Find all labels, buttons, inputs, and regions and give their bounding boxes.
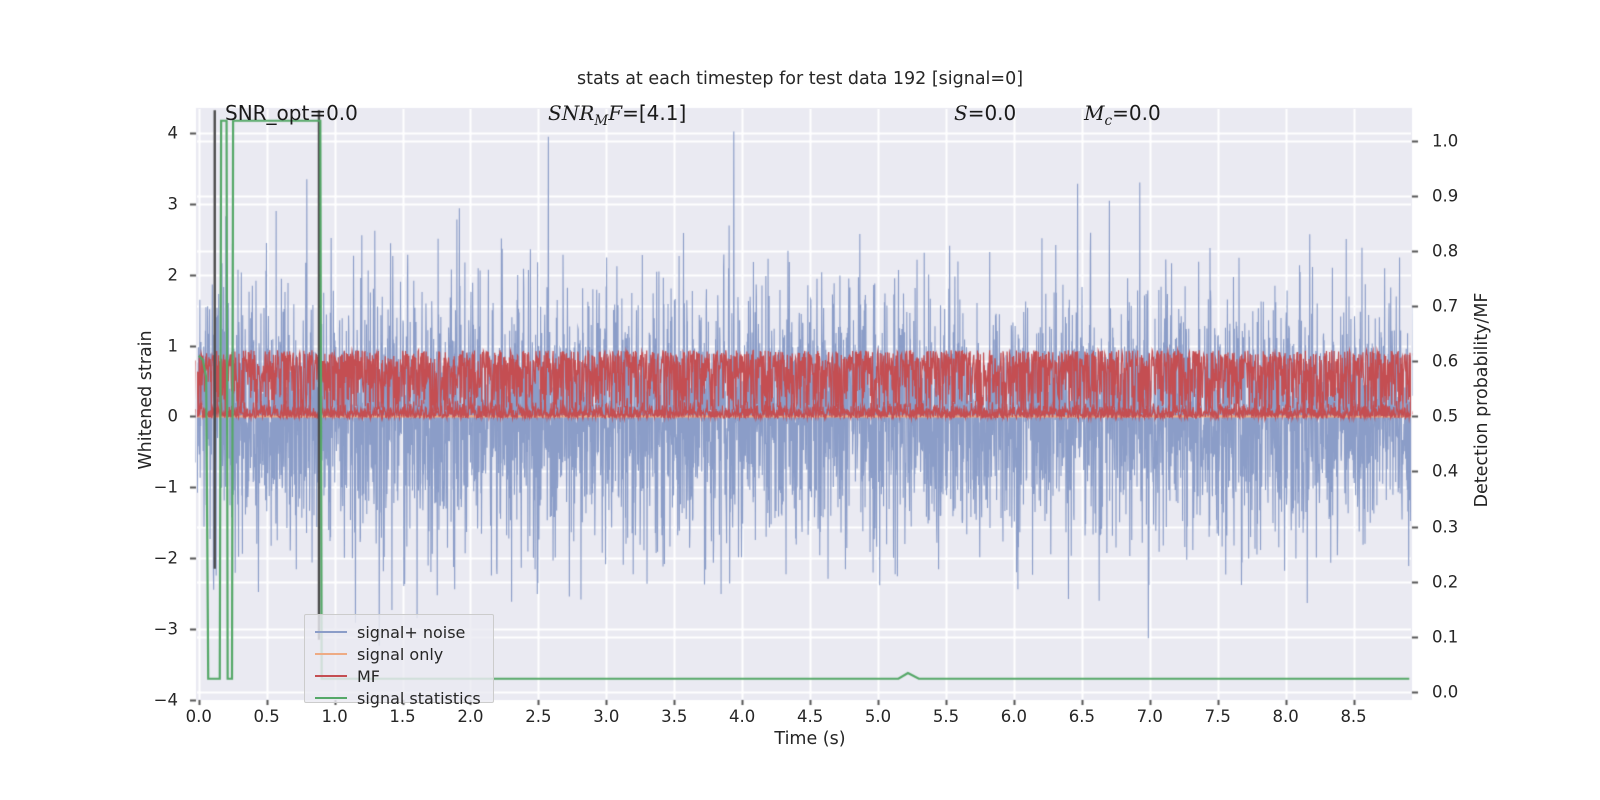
legend-item-label: MF: [357, 667, 380, 686]
y-tick-label-right: 0.3: [1432, 517, 1458, 536]
x-tick-label: 2.0: [457, 707, 483, 726]
x-tick-label: 1.5: [389, 707, 415, 726]
legend-item[interactable]: signal+ noise: [305, 621, 465, 643]
x-tick-label: 3.5: [661, 707, 687, 726]
x-tick-label: 3.0: [593, 707, 619, 726]
legend-color-swatch: [315, 697, 347, 699]
x-tick-label: 0.0: [186, 707, 212, 726]
x-tick-label: 4.5: [797, 707, 823, 726]
annotation-s-stat: S=0.0: [954, 101, 1016, 125]
legend-item-label: signal+ noise: [357, 623, 465, 642]
legend-item-label: signal statistics: [357, 689, 481, 708]
legend-color-swatch: [315, 653, 347, 655]
x-tick-label: 8.5: [1340, 707, 1366, 726]
legend-color-swatch: [315, 631, 347, 633]
x-tick-label: 5.0: [865, 707, 891, 726]
y-tick-label-right: 0.0: [1432, 682, 1458, 701]
annotation-mc-stat: Mc=0.0: [1084, 101, 1161, 129]
y-tick-label-left: 3: [168, 194, 179, 213]
y-tick-label-left: 4: [168, 123, 179, 142]
y-tick-label-left: −3: [154, 620, 178, 639]
y-tick-label-left: 2: [168, 265, 179, 284]
annotation-snr-opt: SNR_opt=0.0: [225, 101, 358, 125]
legend-item[interactable]: signal only: [305, 643, 443, 665]
y-tick-label-right: 0.9: [1432, 187, 1458, 206]
legend-color-swatch: [315, 675, 347, 677]
annotation-snr-mf: SNRMF=[4.1]: [548, 101, 686, 129]
y-tick-label-right: 0.8: [1432, 242, 1458, 261]
y-axis-label-right: Detection probability/MF: [1472, 292, 1492, 507]
y-tick-label-left: 0: [168, 407, 179, 426]
x-tick-label: 6.5: [1069, 707, 1095, 726]
x-tick-label: 8.0: [1273, 707, 1299, 726]
x-tick-label: 6.0: [1001, 707, 1027, 726]
chart-title: stats at each timestep for test data 192…: [577, 69, 1023, 89]
x-axis-label: Time (s): [774, 729, 845, 749]
y-tick-label-left: −2: [154, 549, 178, 568]
y-tick-label-right: 1.0: [1432, 132, 1458, 151]
y-axis-label-left: Whitened strain: [136, 330, 156, 469]
matplotlib-figure: stats at each timestep for test data 192…: [0, 0, 1600, 800]
y-tick-label-left: −4: [154, 691, 178, 710]
x-tick-label: 2.5: [525, 707, 551, 726]
x-tick-label: 7.0: [1137, 707, 1163, 726]
legend-item[interactable]: signal statistics: [305, 687, 481, 709]
y-tick-label-right: 0.6: [1432, 352, 1458, 371]
y-tick-label-left: 1: [168, 336, 179, 355]
x-tick-label: 1.0: [321, 707, 347, 726]
y-tick-label-right: 0.4: [1432, 462, 1458, 481]
legend-item[interactable]: MF: [305, 665, 380, 687]
y-tick-label-right: 0.1: [1432, 627, 1458, 646]
y-tick-label-right: 0.5: [1432, 407, 1458, 426]
chart-legend: signal+ noisesignal onlyMFsignal statist…: [304, 614, 494, 703]
y-tick-label-right: 0.2: [1432, 572, 1458, 591]
y-tick-label-right: 0.7: [1432, 297, 1458, 316]
x-tick-label: 0.5: [254, 707, 280, 726]
y-tick-label-left: −1: [154, 478, 178, 497]
x-tick-label: 7.5: [1205, 707, 1231, 726]
legend-item-label: signal only: [357, 645, 443, 664]
x-tick-label: 5.5: [933, 707, 959, 726]
x-tick-label: 4.0: [729, 707, 755, 726]
